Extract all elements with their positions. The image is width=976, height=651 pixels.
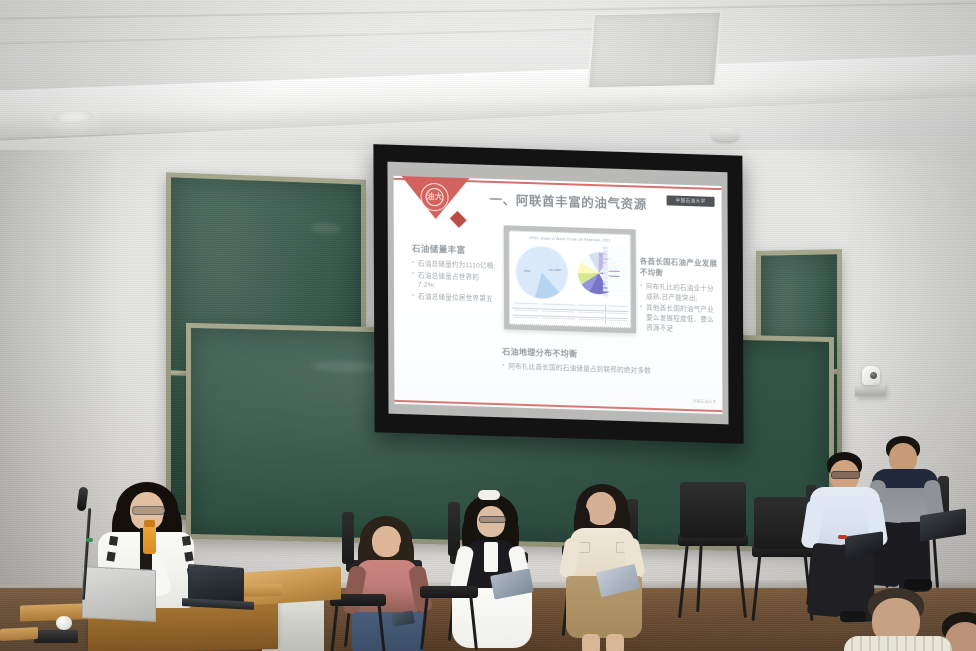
presentation-slide: 油大 一、阿联酋丰富的油气资源 中国石油大学 中国石油大学 石油储量丰富 石油总…	[394, 176, 723, 414]
legend-entry	[603, 280, 627, 284]
ceiling-speaker-icon	[712, 128, 739, 142]
university-seal-icon: 油大	[421, 183, 449, 212]
table-row	[577, 317, 605, 324]
water-bottle	[143, 524, 156, 554]
slide-block-bottom-heading: 石油地理分布不均衡	[502, 346, 692, 363]
glasses-icon	[132, 506, 165, 515]
legend-entry	[603, 285, 627, 289]
list-item: 石油总储量占世界的7.2%;	[412, 271, 496, 293]
round-object	[56, 616, 72, 630]
bottle-cap	[144, 520, 155, 527]
ceiling-light-panel-icon	[587, 11, 722, 90]
slide-block-bottom: 石油地理分布不均衡 阿布扎比酋长国的石油储量占到联邦的绝对多数	[502, 346, 692, 380]
pie-slice-label: Non-OPEC	[549, 269, 562, 272]
slide-block-left: 石油储量丰富 石油总储量约为1110亿桶; 石油总储量占世界的7.2%; 石油总…	[412, 242, 496, 307]
table-row	[541, 316, 577, 323]
microphone-clip	[86, 538, 93, 542]
legend-entry	[603, 251, 627, 255]
list-item: 石油总储量位居世界第五	[412, 293, 496, 305]
list-item: 阿布扎比的石油业十分成熟,日产能突出;	[640, 283, 718, 305]
folding-chair[interactable]	[678, 534, 748, 550]
slide-block-left-list: 石油总储量约为1110亿桶; 石油总储量占世界的7.2%; 石油总储量位居世界第…	[412, 259, 496, 304]
slide-block-right-list: 阿布扎比的石油业十分成熟,日产能突出; 其他酋长国的油气产业要么发展程度低、要么…	[640, 283, 718, 336]
chart-legend	[603, 246, 627, 298]
legend-entry	[603, 259, 627, 263]
folding-chair[interactable]	[752, 545, 814, 560]
slide-block-left-heading: 石油储量丰富	[412, 242, 496, 257]
chart-canvas: OPEC Share of World Crude Oil Reserves, …	[509, 230, 631, 328]
pie-slice-label: OPEC	[524, 270, 531, 273]
legend-entry	[603, 255, 627, 259]
table-row	[606, 311, 628, 318]
slide-block-right-heading: 各酋长国石油产业发展不均衡	[640, 256, 718, 280]
glasses-icon	[479, 516, 506, 523]
slide-chart-image: OPEC Share of World Crude Oil Reserves, …	[504, 225, 636, 333]
legend-entry	[603, 268, 627, 272]
remote-control[interactable]	[34, 630, 78, 643]
projection-surface: 油大 一、阿联酋丰富的油气资源 中国石油大学 中国石油大学 石油储量丰富 石油总…	[387, 162, 728, 425]
slide-title: 一、阿联酋丰富的油气资源	[490, 189, 647, 213]
camera-lens-icon	[870, 372, 877, 379]
hair-clip-icon	[478, 490, 500, 500]
folding-chair[interactable]	[420, 586, 478, 600]
legend-entry	[603, 289, 627, 293]
seal-label: 油大	[422, 184, 448, 211]
table-row	[606, 318, 628, 325]
blouse-ribbon	[484, 542, 498, 572]
legend-entry	[603, 272, 627, 276]
slide-watermark: 中国石油大学	[693, 399, 716, 405]
slide-badge: 中国石油大学	[667, 195, 715, 207]
legend-entry	[603, 246, 627, 250]
table-header-cell	[606, 304, 628, 311]
wooden-tray	[0, 627, 38, 641]
list-item: 阿布扎比酋长国的石油储量占到联邦的绝对多数	[502, 362, 692, 378]
camera-bracket	[855, 383, 885, 396]
slide-bottom-rule	[394, 400, 722, 412]
chart-title: OPEC Share of World Crude Oil Reserves, …	[510, 235, 630, 243]
pen-icon	[838, 535, 847, 539]
slide-block-bottom-list: 阿布扎比酋长国的石油储量占到联邦的绝对多数	[502, 362, 692, 378]
legend-entry	[603, 293, 627, 297]
chart-data-table	[512, 302, 628, 326]
projection-screen[interactable]: 油大 一、阿联酋丰富的油气资源 中国石油大学 中国石油大学 石油储量丰富 石油总…	[373, 144, 743, 444]
slide-block-right: 各酋长国石油产业发展不均衡 阿布扎比的石油业十分成熟,日产能突出; 其他酋长国的…	[640, 256, 718, 338]
glasses-icon	[831, 471, 860, 479]
list-item: 石油总储量约为1110亿桶;	[412, 259, 496, 271]
lecture-hall-scene: 油大 一、阿联酋丰富的油气资源 中国石油大学 中国石油大学 石油储量丰富 石油总…	[0, 0, 976, 651]
table-row	[512, 315, 540, 322]
legend-entry	[603, 263, 627, 267]
legend-entry	[603, 276, 627, 280]
list-item: 其他酋长国的油气产业要么发展程度低、要么资源不足	[640, 304, 718, 335]
